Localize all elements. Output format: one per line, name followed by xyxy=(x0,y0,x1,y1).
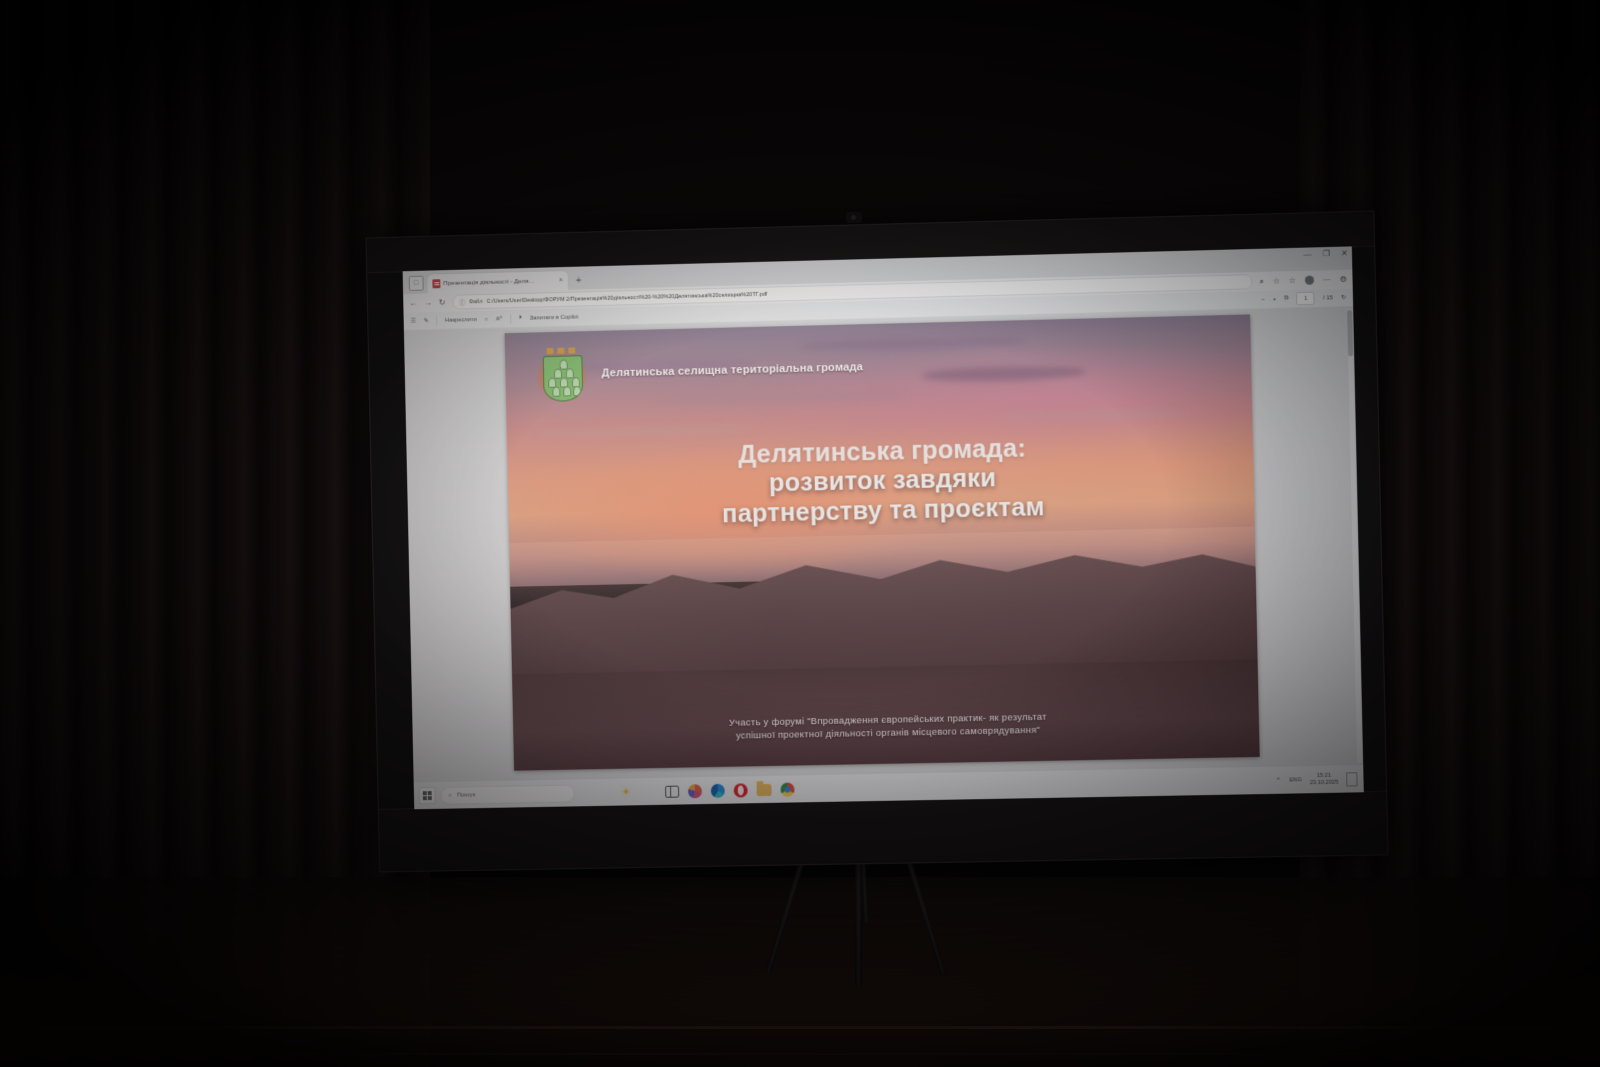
nav-right-icons: ⌕ ☆ ☆ ··· ⚙ xyxy=(1259,274,1346,286)
more-options-icon[interactable]: ··· xyxy=(1323,275,1331,284)
settings-gear-icon[interactable]: ⚙ xyxy=(1340,275,1347,284)
pdf-viewer[interactable]: Делятинська селищна територіальна громад… xyxy=(404,307,1363,783)
edge-icon[interactable] xyxy=(711,783,725,797)
taskbar-search-box[interactable]: ⌕ Пошук xyxy=(440,784,575,804)
tab-close-icon[interactable]: × xyxy=(559,277,563,284)
taskbar-clock[interactable]: 15:21 23.10.2025 xyxy=(1310,772,1339,787)
fit-page-button[interactable]: ⧉ xyxy=(1284,295,1288,302)
collections-icon[interactable]: ☆ xyxy=(1289,276,1296,285)
maximize-icon[interactable]: ❐ xyxy=(1323,249,1330,258)
new-tab-button[interactable]: + xyxy=(572,275,586,286)
projection-screen-assembly: □ Презентація діяльності - Деля… × + — ❐… xyxy=(368,224,1378,864)
rotate-button[interactable]: ↻ xyxy=(1341,294,1346,300)
slide-header-title: Делятинська селищна територіальна громад… xyxy=(601,362,863,380)
start-button[interactable] xyxy=(419,787,436,804)
delyatyn-coat-of-arms-icon xyxy=(538,347,585,404)
favorite-star-icon[interactable]: ☆ xyxy=(1273,276,1280,285)
system-tray: ⌃ ENG 15:21 23.10.2025 xyxy=(1275,772,1357,788)
screen-surface: □ Презентація діяльності - Деля… × + — ❐… xyxy=(403,246,1364,809)
pdf-read-aloud-button[interactable]: ⏵ xyxy=(519,315,522,322)
pdf-highlight-button[interactable]: ✎ xyxy=(424,318,429,324)
auditorium-room: □ Презентація діяльності - Деля… × + — ❐… xyxy=(0,0,1600,1067)
file-explorer-icon[interactable] xyxy=(757,783,772,795)
edge-browser-window[interactable]: □ Презентація діяльності - Деля… × + — ❐… xyxy=(403,246,1364,809)
zoom-out-button[interactable]: − xyxy=(1261,296,1265,302)
presentation-slide: Делятинська селищна територіальна громад… xyxy=(505,314,1260,770)
forward-icon[interactable]: → xyxy=(424,298,432,307)
minimize-icon[interactable]: — xyxy=(1303,249,1311,258)
floor-edge-highlight xyxy=(0,1026,1600,1029)
taskbar-app-icons xyxy=(665,782,795,798)
task-view-icon[interactable] xyxy=(665,785,679,797)
copilot-icon[interactable] xyxy=(688,784,702,798)
viewer-scrollbar[interactable] xyxy=(1347,309,1362,763)
viewer-scrollbar-thumb[interactable] xyxy=(1347,310,1353,356)
clock-time: 15:21 xyxy=(1317,772,1331,778)
pdf-favicon xyxy=(432,279,440,288)
browser-tab[interactable]: Презентація діяльності - Деля… × xyxy=(427,271,568,294)
close-icon[interactable]: ✕ xyxy=(1341,249,1348,258)
file-protocol-icon: ⓘ xyxy=(459,297,465,306)
copilot-sparkle-icon[interactable]: ✦ xyxy=(621,785,630,798)
screen-frame: □ Презентація діяльності - Деля… × + — ❐… xyxy=(365,211,1388,873)
window-controls: — ❐ ✕ xyxy=(1303,249,1348,259)
pdf-erase-button[interactable]: ○ xyxy=(484,316,488,322)
back-icon[interactable]: ← xyxy=(409,299,417,308)
pdf-sidebar-toggle[interactable]: ☰ xyxy=(411,318,416,324)
profile-avatar-icon[interactable] xyxy=(1305,276,1314,285)
zoom-in-button[interactable]: + xyxy=(1273,296,1277,302)
ceiling-camera xyxy=(846,212,862,223)
toolbar-separator xyxy=(510,314,511,324)
pdf-copilot-button[interactable]: Запитати в Copilot xyxy=(530,314,579,321)
chrome-icon[interactable] xyxy=(781,782,795,796)
floor-edge-highlight-secondary xyxy=(0,1053,1600,1055)
tab-title: Презентація діяльності - Деля… xyxy=(443,277,556,287)
toolbar-separator xyxy=(436,316,437,326)
pdf-text-size-button[interactable]: Aᴬ xyxy=(496,316,503,322)
clock-date: 23.10.2025 xyxy=(1310,779,1338,786)
tray-overflow-icon[interactable]: ⌃ xyxy=(1275,776,1281,784)
file-label: Файл xyxy=(469,298,483,304)
search-placeholder: Пошук xyxy=(457,791,476,798)
reload-icon[interactable]: ↻ xyxy=(439,298,446,307)
tab-actions-icon[interactable]: □ xyxy=(409,276,424,291)
address-bar-url: C:/Users/User/Desktop/ФОРУМ 2/Презентаці… xyxy=(487,291,768,304)
language-indicator[interactable]: ENG xyxy=(1289,777,1301,783)
windows-logo-icon xyxy=(423,791,432,800)
page-total-label: / 15 xyxy=(1323,295,1333,301)
show-desktop-button[interactable] xyxy=(1346,772,1357,786)
search-icon[interactable]: ⌕ xyxy=(1259,276,1263,286)
stage-floor xyxy=(0,877,1600,1067)
slide-title-block: Делятинська громада: розвиток завдяки па… xyxy=(529,430,1239,533)
search-icon: ⌕ xyxy=(448,791,452,799)
page-number-input[interactable]: 1 xyxy=(1297,292,1316,306)
pdf-draw-button[interactable]: Накреслити xyxy=(445,317,477,324)
opera-icon[interactable] xyxy=(734,783,748,797)
